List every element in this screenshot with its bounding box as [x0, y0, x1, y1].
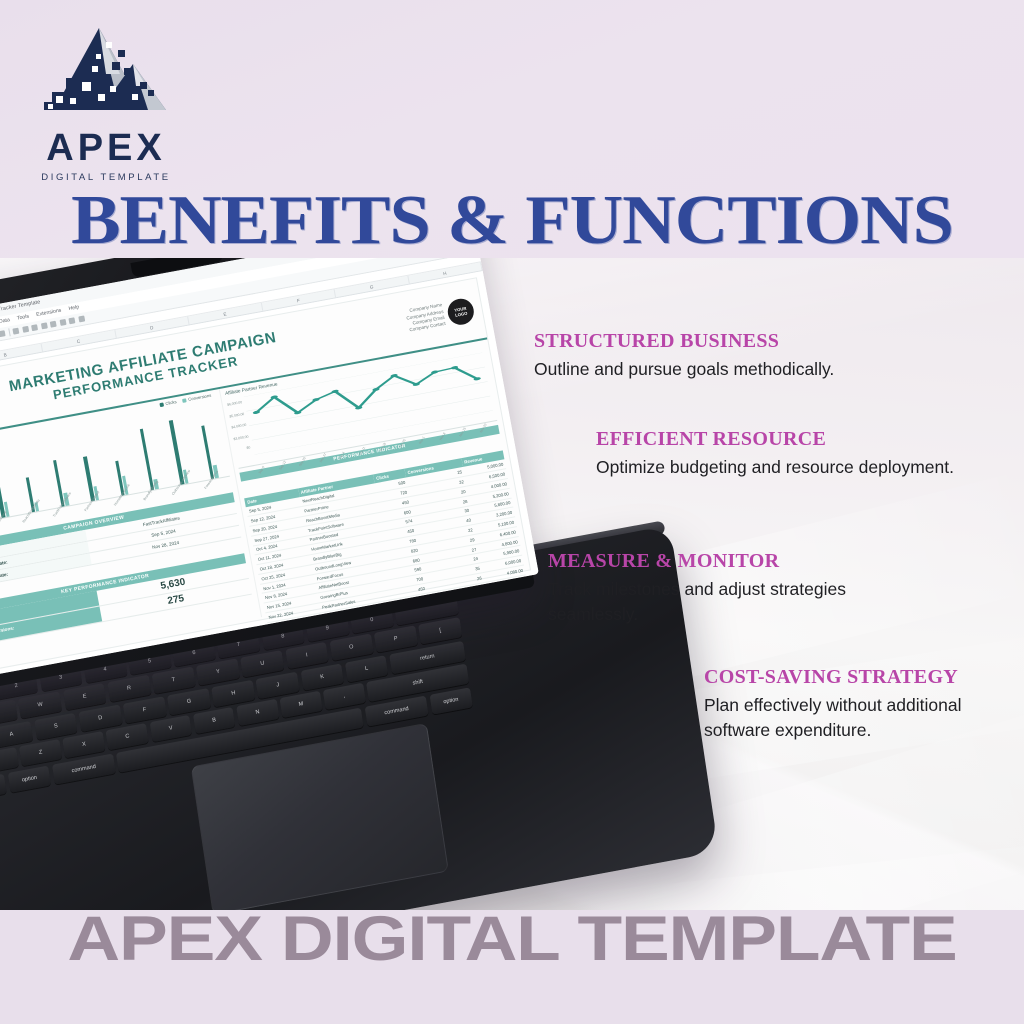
key-s[interactable]: S — [34, 713, 78, 740]
promo-poster: esc ~ — [0, 0, 1024, 1024]
key-c[interactable]: C — [106, 723, 149, 750]
x-tick: Oct 25 — [398, 431, 411, 449]
x-tick: Sep 27 — [318, 446, 331, 464]
bar-clicks — [169, 420, 184, 484]
key-option-right[interactable]: option — [429, 687, 473, 714]
key-option-left[interactable]: option — [8, 765, 52, 792]
align-icon[interactable] — [40, 322, 47, 329]
page-title: BENEFITS & FUNCTIONS — [0, 186, 1024, 256]
logo-placeholder: YOUR LOGO — [446, 297, 476, 327]
key-z[interactable]: Z — [19, 739, 62, 766]
feature-structured-business: STRUCTURED BUSINESS Outline and pursue g… — [534, 330, 834, 382]
legend-swatch-clicks — [159, 402, 164, 407]
bar-clicks — [140, 429, 155, 490]
merge-cells-icon[interactable] — [31, 324, 38, 331]
x-tick: Nov 15 — [459, 420, 472, 438]
key-v[interactable]: V — [149, 715, 192, 742]
x-tick: Sep 12 — [278, 453, 291, 471]
toolbar-divider — [8, 328, 10, 336]
template-right-column: Affiliate Partner Revenue $6,000.00$5,00… — [219, 339, 529, 617]
borders-icon[interactable] — [22, 326, 29, 333]
key-n[interactable]: N — [236, 699, 279, 726]
key-e[interactable]: E — [63, 683, 107, 710]
menu-tools[interactable]: Tools — [17, 314, 30, 322]
key-i[interactable]: I — [285, 642, 329, 669]
x-tick: Oct 11 — [358, 438, 371, 456]
bar-clicks — [201, 426, 214, 479]
x-tick: Nov 22 — [479, 416, 492, 434]
brand-logo: APEX DIGITAL TEMPLATE — [36, 24, 176, 183]
x-tick: Oct 4 — [338, 442, 351, 460]
key-control[interactable]: control — [0, 774, 7, 801]
menu-help[interactable]: Help — [68, 304, 80, 312]
logo-placeholder-line2: LOGO — [455, 311, 468, 318]
key-h[interactable]: H — [211, 680, 255, 707]
feature-efficient-resource: EFFICIENT RESOURCE Optimize budgeting an… — [596, 428, 954, 480]
key-f[interactable]: F — [123, 696, 167, 723]
insert-chart-icon[interactable] — [59, 319, 66, 326]
footer-wordmark: APEX DIGITAL TEMPLATE — [0, 908, 1024, 971]
x-tick: Oct 18 — [378, 434, 391, 452]
feature-body: Plan effectively without additional soft… — [704, 693, 1014, 744]
filter-icon[interactable] — [68, 317, 75, 324]
key-x[interactable]: X — [63, 731, 106, 758]
key-u[interactable]: U — [240, 650, 284, 677]
feature-heading: MEASURE & MONITOR — [548, 550, 910, 572]
functions-icon[interactable] — [78, 316, 85, 323]
key-w[interactable]: W — [18, 691, 62, 718]
feature-body: Optimize budgeting and resource deployme… — [596, 455, 954, 480]
feature-body: Outline and pursue goals methodically. — [534, 357, 834, 382]
feature-cost-saving-strategy: COST-SAVING STRATEGY Plan effectively wi… — [704, 666, 1014, 744]
x-tick: Nov 1 — [418, 427, 431, 445]
x-tick: Nov 8 — [438, 423, 451, 441]
key-t[interactable]: T — [152, 667, 196, 694]
key-g[interactable]: G — [167, 688, 211, 715]
feature-heading: EFFICIENT RESOURCE — [596, 428, 954, 450]
key-d[interactable]: D — [78, 704, 122, 731]
key-y[interactable]: Y — [196, 658, 240, 685]
key-o[interactable]: O — [329, 634, 373, 661]
text-color-icon[interactable] — [0, 330, 6, 337]
fill-color-icon[interactable] — [12, 328, 19, 335]
x-tick: Sep 20 — [298, 449, 311, 467]
key-r[interactable]: R — [107, 675, 151, 702]
feature-measure-monitor: MEASURE & MONITOR Track milestones and a… — [548, 550, 910, 628]
template-left-column: Clicks and Conversions Clicks — [0, 389, 261, 671]
menu-data[interactable]: Data — [0, 317, 10, 325]
key-j[interactable]: J — [256, 671, 300, 698]
legend-swatch-conversions — [182, 398, 187, 403]
key-bracket[interactable]: [ — [418, 617, 462, 644]
feature-body: Track milestones and adjust strategies s… — [548, 577, 910, 628]
key-k[interactable]: K — [300, 663, 344, 690]
key-comma[interactable]: , — [323, 683, 366, 710]
key-l[interactable]: L — [345, 655, 389, 682]
x-tick: Sep 5 — [258, 457, 271, 475]
key-b[interactable]: B — [193, 707, 236, 734]
company-info-block: Company Name Company Address Company Ema… — [355, 297, 476, 344]
key-p[interactable]: P — [374, 626, 418, 653]
brand-name: APEX — [36, 129, 176, 167]
mountain-peak-pixel-icon — [36, 24, 174, 122]
feature-heading: STRUCTURED BUSINESS — [534, 330, 834, 352]
key-m[interactable]: M — [280, 691, 323, 718]
wrap-text-icon[interactable] — [50, 321, 57, 328]
feature-heading: COST-SAVING STRATEGY — [704, 666, 1014, 688]
company-fields: Company Name Company Address Company Ema… — [355, 302, 446, 343]
